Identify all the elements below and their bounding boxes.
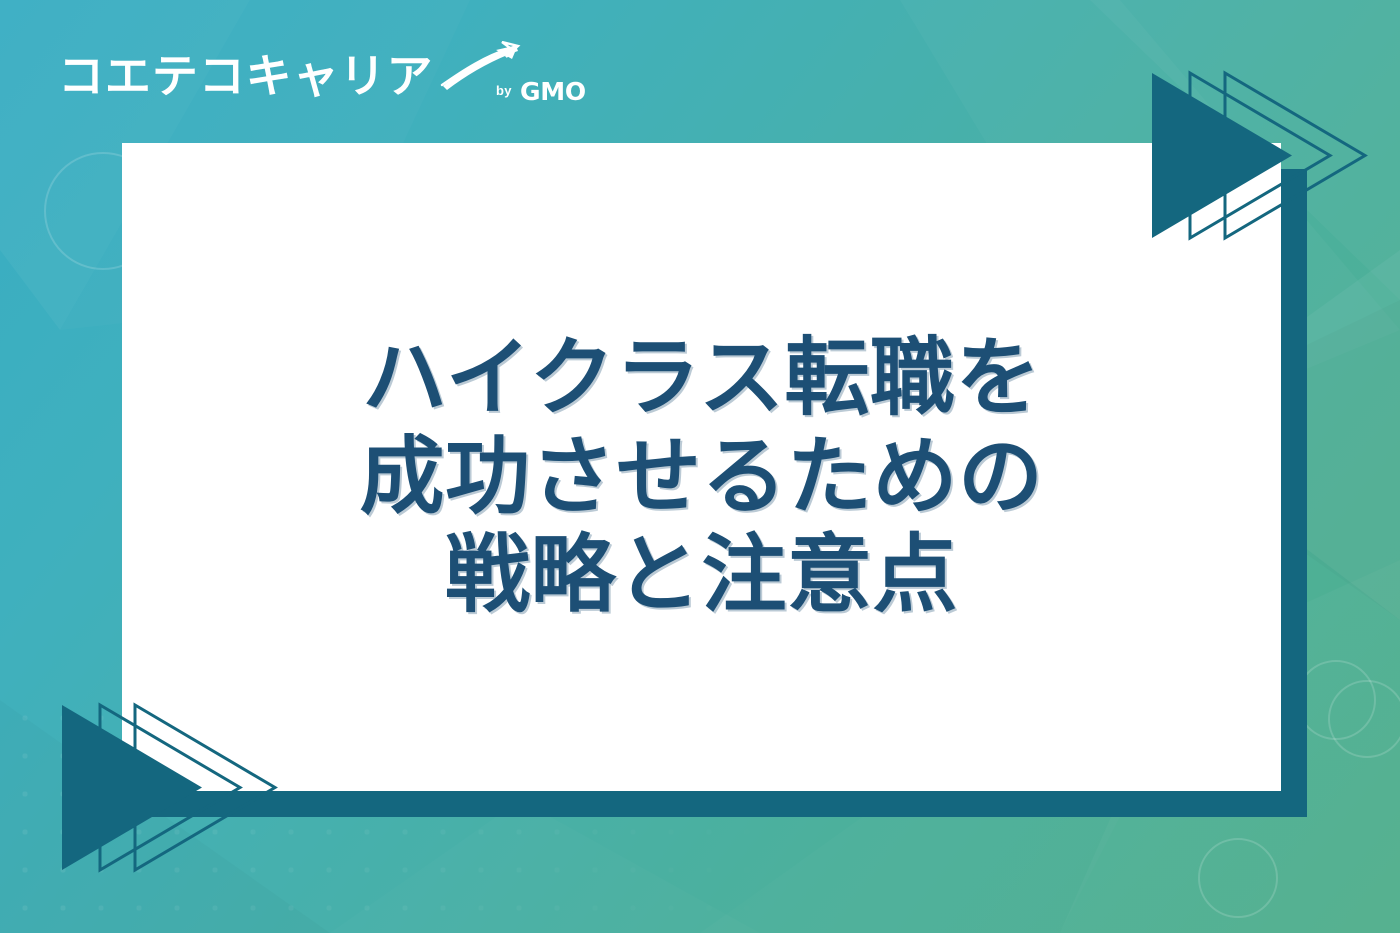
arrow-up-right-icon [440,41,526,91]
brand-logo[interactable]: コエテコキャリア by GMO [58,41,538,113]
hero-title-line-1: ハイクラス転職を [362,330,1041,429]
hero-title-line-2: 成功させるための [359,429,1043,528]
brand-logo-by-label: by [496,83,512,98]
brand-logo-gmo-label: GMO [520,77,586,106]
circle-outline-decoration [1328,680,1400,758]
brand-logo-text: コエテコキャリア [58,53,433,99]
slide-canvas: ハイクラス転職を 成功させるための 戦略と注意点 コエテコキャリア by GMO [0,0,1400,933]
circle-outline-decoration [1198,838,1278,918]
hero-title: ハイクラス転職を 成功させるための 戦略と注意点 [122,143,1281,791]
hero-title-line-3: 戦略と注意点 [445,527,958,626]
